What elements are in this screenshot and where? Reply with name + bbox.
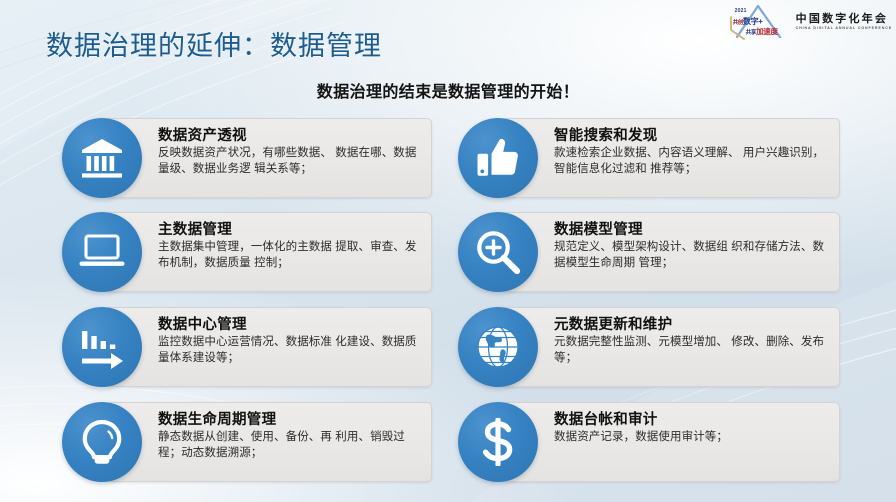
card-description: 款速检索企业数据、内容语义理解、 用户兴趣识别，智能信息化过滤和 推荐等； <box>554 146 828 177</box>
card-8[interactable]: 数据台帐和审计数据资产记录，数据使用审计等； <box>458 402 840 482</box>
logo-tagline-2: 共享加速度 <box>746 26 778 37</box>
card-description: 规范定义、模型架构设计、数据组 织和存储方法、数据模型生命周期 管理； <box>554 240 828 271</box>
card-body: 智能搜索和发现款速检索企业数据、内容语义理解、 用户兴趣识别，智能信息化过滤和 … <box>554 127 828 177</box>
logo-tagline-2-prefix: 共享 <box>746 30 756 36</box>
card-body: 数据生命周期管理静态数据从创建、使用、备份、再 利用、销毁过程；动态数据溯源； <box>158 411 420 461</box>
card-body: 数据模型管理规范定义、模型架构设计、数据组 织和存储方法、数据模型生命周期 管理… <box>554 221 828 271</box>
card-5[interactable]: 智能搜索和发现款速检索企业数据、内容语义理解、 用户兴趣识别，智能信息化过滤和 … <box>458 118 840 198</box>
card-7[interactable]: 元数据更新和维护元数据完整性监测、元模型增加、 修改、删除、发布等； <box>458 307 840 387</box>
card-grid: 数据资产透视反映数据资产状况，有哪些数据、 数据在哪、数据量级、数据业务逻 辑关… <box>0 0 896 502</box>
globe-icon <box>458 307 538 387</box>
logo-mark-icon: 2021 共创数字+ 共享加速度 <box>728 3 790 41</box>
card-body: 元数据更新和维护元数据完整性监测、元模型增加、 修改、删除、发布等； <box>554 316 828 366</box>
card-title: 数据生命周期管理 <box>158 411 420 429</box>
card-4[interactable]: 数据生命周期管理静态数据从创建、使用、备份、再 利用、销毁过程；动态数据溯源； <box>62 402 432 482</box>
lightbulb-icon <box>62 402 142 482</box>
card-description: 静态数据从创建、使用、备份、再 利用、销毁过程；动态数据溯源； <box>158 430 420 461</box>
brand-name-en: CHINA DIGITAL ANNUAL CONFERENCE <box>796 25 892 31</box>
logo-tagline-1-main: 数字+ <box>743 17 763 26</box>
card-6[interactable]: 数据模型管理规范定义、模型架构设计、数据组 织和存储方法、数据模型生命周期 管理… <box>458 212 840 292</box>
conference-logo: 2021 共创数字+ 共享加速度 中国数字化年会 CHINA DIGITAL A… <box>728 2 892 42</box>
card-title: 智能搜索和发现 <box>554 127 828 145</box>
bar-chart-arrow-icon <box>62 307 142 387</box>
logo-year: 2021 <box>735 8 747 14</box>
card-description: 监控数据中心运营情况、数据标准 化建设、数据质量体系建设等； <box>158 335 420 366</box>
brand-name-cn: 中国数字化年会 <box>796 13 892 25</box>
card-body: 数据台帐和审计数据资产记录，数据使用审计等； <box>554 411 828 446</box>
card-title: 元数据更新和维护 <box>554 316 828 334</box>
card-description: 反映数据资产状况，有哪些数据、 数据在哪、数据量级、数据业务逻 辑关系等； <box>158 146 420 177</box>
card-body: 数据资产透视反映数据资产状况，有哪些数据、 数据在哪、数据量级、数据业务逻 辑关… <box>158 127 420 177</box>
card-title: 数据台帐和审计 <box>554 411 828 429</box>
card-title: 数据模型管理 <box>554 221 828 239</box>
logo-tagline-2-main: 加速度 <box>756 27 778 36</box>
card-body: 主数据管理主数据集中管理，一体化的主数据 提取、审查、发布机制，数据质量 控制； <box>158 221 420 271</box>
card-description: 数据资产记录，数据使用审计等； <box>554 430 828 446</box>
card-description: 元数据完整性监测、元模型增加、 修改、删除、发布等； <box>554 335 828 366</box>
bank-icon <box>62 118 142 198</box>
page-title: 数据治理的延伸：数据管理 <box>46 24 382 63</box>
laptop-icon <box>62 212 142 292</box>
card-description: 主数据集中管理，一体化的主数据 提取、审查、发布机制，数据质量 控制； <box>158 240 420 271</box>
thumbs-up-icon <box>458 118 538 198</box>
card-title: 主数据管理 <box>158 221 420 239</box>
magnifier-plus-icon <box>458 212 538 292</box>
card-3[interactable]: 数据中心管理监控数据中心运营情况、数据标准 化建设、数据质量体系建设等； <box>62 307 432 387</box>
slide-subtitle: 数据治理的结束是数据管理的开始！ <box>0 78 896 102</box>
card-1[interactable]: 数据资产透视反映数据资产状况，有哪些数据、 数据在哪、数据量级、数据业务逻 辑关… <box>62 118 432 198</box>
card-body: 数据中心管理监控数据中心运营情况、数据标准 化建设、数据质量体系建设等； <box>158 316 420 366</box>
card-title: 数据资产透视 <box>158 127 420 145</box>
card-title: 数据中心管理 <box>158 316 420 334</box>
logo-tagline-1-prefix: 共创 <box>733 20 743 26</box>
dollar-icon <box>458 402 538 482</box>
card-2[interactable]: 主数据管理主数据集中管理，一体化的主数据 提取、审查、发布机制，数据质量 控制； <box>62 212 432 292</box>
